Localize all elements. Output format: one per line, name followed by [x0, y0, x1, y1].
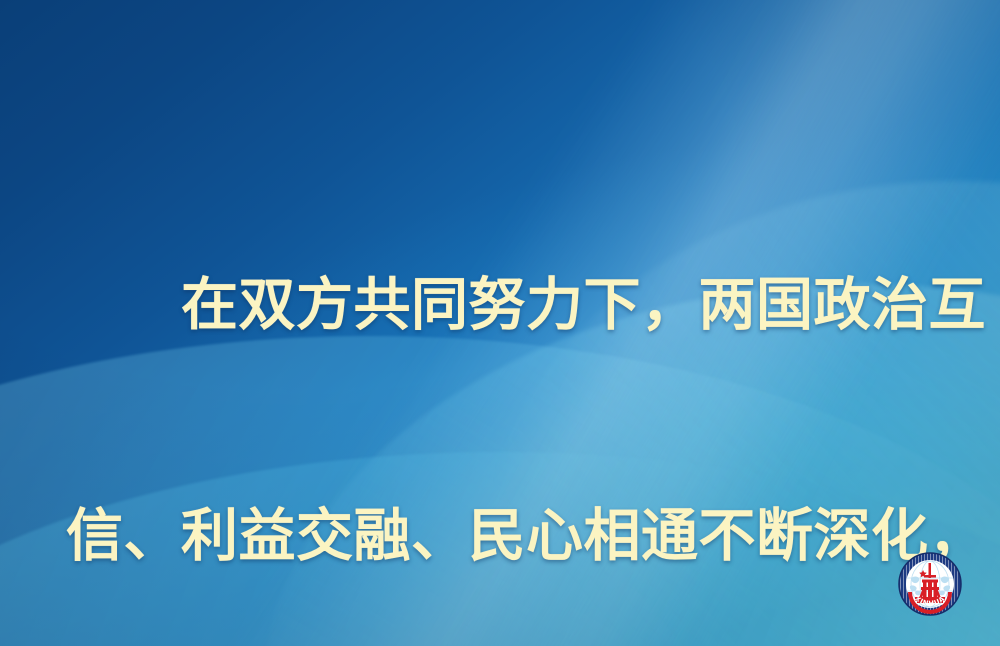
poster-canvas: 在双方共同努力下，两国政治互 信、利益交融、民心相通不断深化， 经贸、投资、能源…: [0, 0, 1000, 646]
quote-headline: 在双方共同努力下，两国政治互 信、利益交融、民心相通不断深化， 经贸、投资、能源…: [0, 112, 1000, 646]
headline-line-2: 信、利益交融、民心相通不断深化，: [66, 497, 942, 574]
headline-line-1: 在双方共同努力下，两国政治互: [66, 266, 942, 343]
xinhua-logo: XINHUA: [898, 552, 962, 616]
